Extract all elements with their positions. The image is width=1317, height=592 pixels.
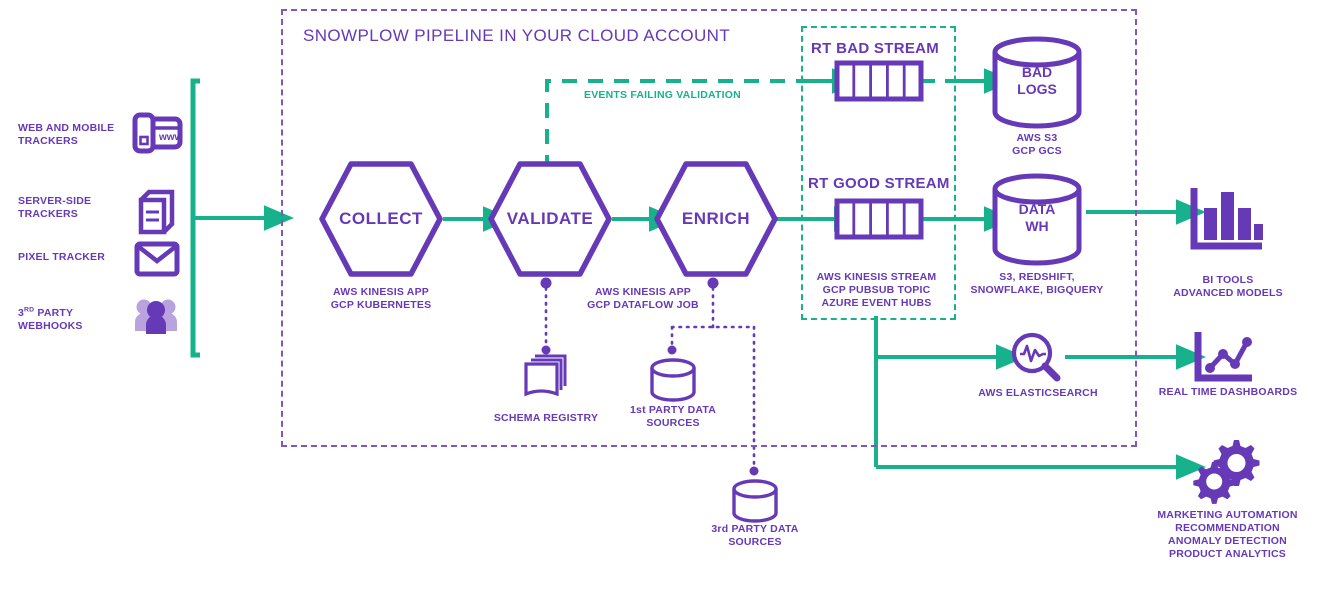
output-marketing-automation-label: MARKETING AUTOMATION RECOMMENDATION ANOM… <box>1140 509 1315 561</box>
server-icon <box>136 188 178 238</box>
source-label: PIXEL TRACKER <box>18 251 136 264</box>
failing-validation-label: EVENTS FAILING VALIDATION <box>584 89 741 101</box>
stage-label: VALIDATE <box>487 209 613 229</box>
output-real-time-dashboards-label: REAL TIME DASHBOARDS <box>1143 386 1313 399</box>
stage-collect-sublabel: AWS KINESIS APP GCP KUBERNETES <box>311 286 451 312</box>
rt-good-stream-title: RT GOOD STREAM <box>808 175 950 192</box>
documents-icon <box>521 352 571 404</box>
node-elasticsearch-label: AWS ELASTICSEARCH <box>963 387 1113 400</box>
database-icon <box>730 477 780 525</box>
node-elasticsearch[interactable] <box>1008 330 1066 386</box>
line-chart-icon <box>1192 330 1258 388</box>
node-first-party-data[interactable] <box>648 356 698 404</box>
rt-bad-stream-title: RT BAD STREAM <box>811 40 939 57</box>
stage-validate[interactable]: VALIDATE <box>487 160 613 278</box>
store-bad-logs-sublabel: AWS S3 GCP GCS <box>1004 132 1070 158</box>
output-real-time-dashboards[interactable] <box>1192 330 1258 388</box>
rt-bad-stream-queue[interactable] <box>834 60 924 102</box>
source-label: 3RD PARTY WEBHOOKS <box>18 303 128 333</box>
node-third-party-data[interactable] <box>730 477 780 525</box>
streams-sublabel: AWS KINESIS STREAM GCP PUBSUB TOPIC AZUR… <box>801 271 952 310</box>
node-third-party-data-label: 3rd PARTY DATA SOURCES <box>695 523 815 549</box>
source-bracket <box>193 81 268 355</box>
store-bad-logs[interactable]: BAD LOGS <box>991 38 1083 126</box>
envelope-icon <box>134 240 180 278</box>
stage-validate-sublabel: AWS KINESIS APP GCP DATAFLOW JOB <box>568 286 718 312</box>
rt-good-stream-queue[interactable] <box>834 198 924 240</box>
stage-label: ENRICH <box>653 209 779 229</box>
pipeline-box-title: SNOWPLOW PIPELINE IN YOUR CLOUD ACCOUNT <box>303 26 730 46</box>
node-first-party-data-label: 1st PARTY DATA SOURCES <box>613 404 733 430</box>
gears-icon <box>1190 434 1262 502</box>
bar-chart-icon <box>1188 186 1266 256</box>
output-bi-tools[interactable] <box>1188 186 1266 256</box>
node-schema-registry-label: SCHEMA REGISTRY <box>486 412 606 425</box>
stage-collect[interactable]: COLLECT <box>318 160 444 278</box>
magnifier-pulse-icon <box>1008 330 1066 386</box>
node-schema-registry[interactable] <box>521 352 571 404</box>
stage-label: COLLECT <box>318 209 444 229</box>
mobile-browser-icon: www <box>131 113 183 163</box>
diagram-canvas: SNOWPLOW PIPELINE IN YOUR CLOUD ACCOUNT … <box>0 0 1317 592</box>
people-icon <box>133 295 179 337</box>
store-label: DATA WH <box>991 201 1083 235</box>
database-icon <box>648 356 698 404</box>
store-label: BAD LOGS <box>991 64 1083 98</box>
output-marketing-automation[interactable] <box>1190 434 1262 502</box>
store-data-wh[interactable]: DATA WH <box>991 175 1083 263</box>
source-label: SERVER-SIDE TRACKERS <box>18 195 128 221</box>
svg-text:www: www <box>158 132 183 143</box>
source-label: WEB AND MOBILE TRACKERS <box>18 122 128 148</box>
stage-enrich[interactable]: ENRICH <box>653 160 779 278</box>
store-data-wh-sublabel: S3, REDSHIFT, SNOWFLAKE, BIGQUERY <box>967 271 1107 297</box>
output-bi-tools-label: BI TOOLS ADVANCED MODELS <box>1152 274 1304 300</box>
